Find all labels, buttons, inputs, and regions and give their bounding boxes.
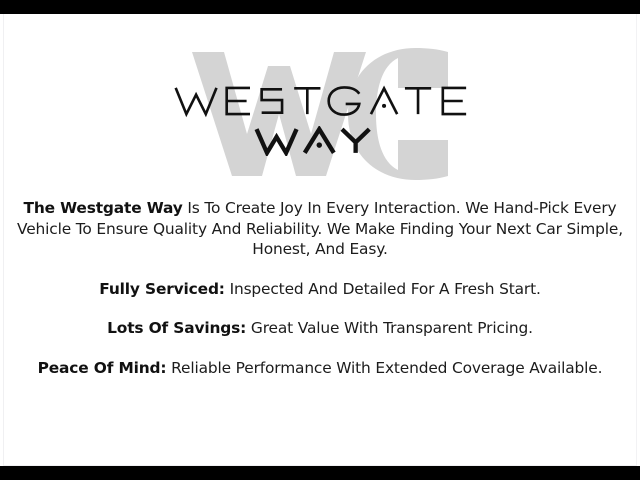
- paragraph-peace-of-mind-rest: Reliable Performance With Extended Cover…: [166, 359, 602, 377]
- paragraph-fully-serviced-rest: Inspected And Detailed For A Fresh Start…: [225, 280, 541, 298]
- letterbox-bar-top: [0, 0, 640, 14]
- letterbox-bar-bottom: [0, 466, 640, 480]
- logo-wordmark: WESTGATE: [0, 48, 640, 184]
- paragraph-fully-serviced: Fully Serviced: Inspected And Detailed F…: [10, 279, 630, 300]
- paragraph-intro: The Westgate Way Is To Create Joy In Eve…: [10, 198, 630, 260]
- paragraph-peace-of-mind-lead: Peace Of Mind:: [38, 359, 167, 377]
- paragraph-fully-serviced-lead: Fully Serviced:: [99, 280, 225, 298]
- logo-a-dot-icon: [382, 104, 386, 108]
- logo-way-a-dot-icon: [316, 142, 321, 147]
- logo-way-text: WAY: [252, 126, 388, 156]
- logo-westgate-text: WESTGATE: [165, 84, 476, 118]
- paragraph-lots-of-savings-lead: Lots Of Savings:: [107, 319, 246, 337]
- paragraph-lots-of-savings-rest: Great Value With Transparent Pricing.: [246, 319, 533, 337]
- brand-logo: WESTGATE: [0, 48, 640, 184]
- paragraph-lots-of-savings: Lots Of Savings: Great Value With Transp…: [10, 318, 630, 339]
- body-copy: The Westgate Way Is To Create Joy In Eve…: [10, 198, 630, 378]
- paragraph-intro-lead: The Westgate Way: [24, 199, 183, 217]
- promo-card: WESTGATE: [0, 0, 640, 480]
- paragraph-peace-of-mind: Peace Of Mind: Reliable Performance With…: [10, 358, 630, 379]
